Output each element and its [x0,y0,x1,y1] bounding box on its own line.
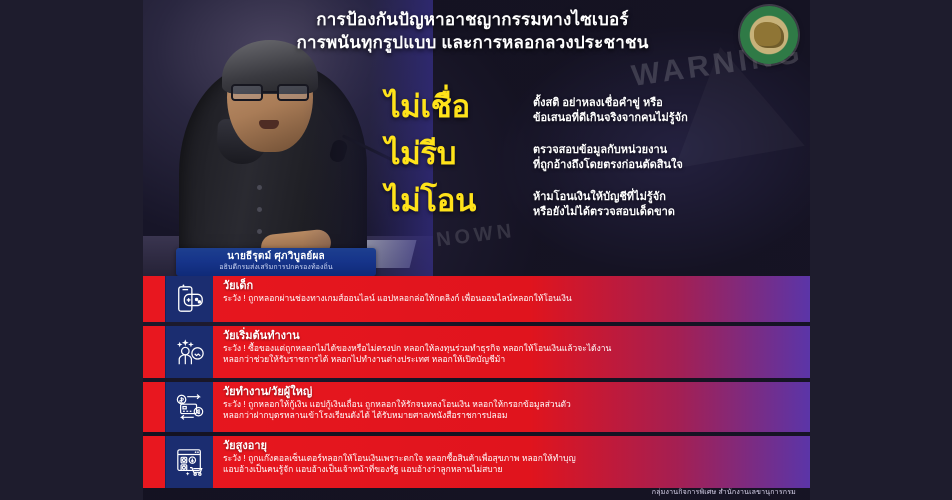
header: การป้องกันปัญหาอาชญากรรมทางไซเบอร์ การพน… [143,8,810,54]
row-lead-bar [143,326,165,378]
row-body-line: ระวัง ! ถูกแก๊งคอลเซ็นเตอร์หลอกให้โอนเงิ… [223,453,576,464]
slogan-headline: ไม่เชื่อ [385,90,533,124]
row-body-line: แอบอ้างเป็นคนรู้จัก แอบอ้างเป็นเจ้าหน้าท… [223,464,576,475]
row-title: วัยสูงอายุ [223,440,576,453]
slogan-item: ไม่โอน ห้ามโอนเงินให้บัญชีที่ไม่รู้จัก ห… [385,184,805,220]
slogan-description: ห้ามโอนเงินให้บัญชีที่ไม่รู้จัก หรือยังไ… [533,184,675,220]
row-body-line: ระวัง ! ถูกหลอกผ่านช่องทางเกมส์ออนไลน์ แ… [223,293,572,304]
row-body-line: ระวัง ! ถูกหลอกให้กู้เงิน แอปกู้เงินเถื่… [223,399,571,410]
row-text: วัยทำงาน/วัยผู้ใหญ่ ระวัง ! ถูกหลอกให้กู… [213,382,579,432]
slogan-line: หรือยังไม่ได้ตรวจสอบเด็ดขาด [533,205,675,220]
thai-government-seal-icon [740,6,798,64]
age-row-child: วัยเด็ก ระวัง ! ถูกหลอกผ่านช่องทางเกมส์อ… [143,276,810,322]
row-text: วัยเริ่มต้นทำงาน ระวัง ! ซื้อของแต่ถูกหล… [213,326,619,378]
online-shopping-cart-icon [165,436,213,488]
slogan-item: ไม่เชื่อ ตั้งสติ อย่าหลงเชื่อคำขู่ หรือ … [385,90,805,126]
slogan-line: ที่ถูกอ้างถึงโดยตรงก่อนตัดสินใจ [533,158,683,173]
row-title: วัยเริ่มต้นทำงาน [223,330,611,343]
footer-credit: กลุ่มงานกิจการพิเศษ สำนักงานเลขานุการกรม [652,487,796,498]
speaker-position: อธิบดีกรมส่งเสริมการปกครองท้องถิ่น [182,263,370,272]
slogan-headline: ไม่โอน [385,184,533,218]
row-lead-bar [143,436,165,488]
speaker-nameplate: นายธีรุตม์ ศุภวิบูลย์ผล อธิบดีกรมส่งเสริ… [176,248,376,276]
slogan-line: ตั้งสติ อย่าหลงเชื่อคำขู่ หรือ [533,96,688,111]
slogan-block: ไม่เชื่อ ตั้งสติ อย่าหลงเชื่อคำขู่ หรือ … [385,90,805,231]
letterbox-left [0,0,143,500]
infographic-stage: WARNING UNKNOWN นายธีรุตม์ ศุภวิบูลย์ผล [0,0,952,500]
title-line-2: การพนันทุกรูปแบบ และการหลอกลวงประชาชน [296,33,648,52]
row-body-line: หลอกว่าช่วยให้รับราชการได้ หลอกไปทำงานต่… [223,354,611,365]
row-title: วัยทำงาน/วัยผู้ใหญ่ [223,386,571,399]
row-lead-bar [143,276,165,322]
age-row-elderly: วัยสูงอายุ ระวัง ! ถูกแก๊งคอลเซ็นเตอร์หล… [143,436,810,488]
seal-lion-emblem [754,22,784,48]
slogan-line: ข้อเสนอที่ดีเกินจริงจากคนไม่รู้จัก [533,111,688,126]
slogan-line: ห้ามโอนเงินให้บัญชีที่ไม่รู้จัก [533,190,675,205]
person-stars-handshake-icon [165,326,213,378]
row-text: วัยสูงอายุ ระวัง ! ถูกแก๊งคอลเซ็นเตอร์หล… [213,436,584,488]
slogan-item: ไม่รีบ ตรวจสอบข้อมูลกับหน่วยงาน ที่ถูกอ้… [385,137,805,173]
speaker-name: นายธีรุตม์ ศุภวิบูลย์ผล [182,251,370,263]
content-canvas: WARNING UNKNOWN นายธีรุตม์ ศุภวิบูลย์ผล [143,0,810,500]
page-title: การป้องกันปัญหาอาชญากรรมทางไซเบอร์ การพน… [143,8,810,54]
row-body-line: หลอกว่าฝากบุตรหลานเข้าโรงเรียนดังได้ ได้… [223,410,571,421]
title-line-1: การป้องกันปัญหาอาชญากรรมทางไซเบอร์ [316,10,628,29]
row-title: วัยเด็ก [223,280,572,293]
phone-gamepad-icon [165,276,213,322]
age-row-early-career: วัยเริ่มต้นทำงาน ระวัง ! ซื้อของแต่ถูกหล… [143,326,810,378]
letterbox-right [810,0,952,500]
slogan-description: ตั้งสติ อย่าหลงเชื่อคำขู่ หรือ ข้อเสนอที… [533,90,688,126]
age-row-working-adult: วัยทำงาน/วัยผู้ใหญ่ ระวัง ! ถูกหลอกให้กู… [143,382,810,432]
row-body-line: ระวัง ! ซื้อของแต่ถูกหลอกไม่ได้ของหรือไม… [223,343,611,354]
row-lead-bar [143,382,165,432]
money-transfer-card-icon [165,382,213,432]
slogan-line: ตรวจสอบข้อมูลกับหน่วยงาน [533,143,683,158]
slogan-headline: ไม่รีบ [385,137,533,171]
age-group-list: วัยเด็ก ระวัง ! ถูกหลอกผ่านช่องทางเกมส์อ… [143,276,810,492]
slogan-description: ตรวจสอบข้อมูลกับหน่วยงาน ที่ถูกอ้างถึงโด… [533,137,683,173]
row-text: วัยเด็ก ระวัง ! ถูกหลอกผ่านช่องทางเกมส์อ… [213,276,580,322]
